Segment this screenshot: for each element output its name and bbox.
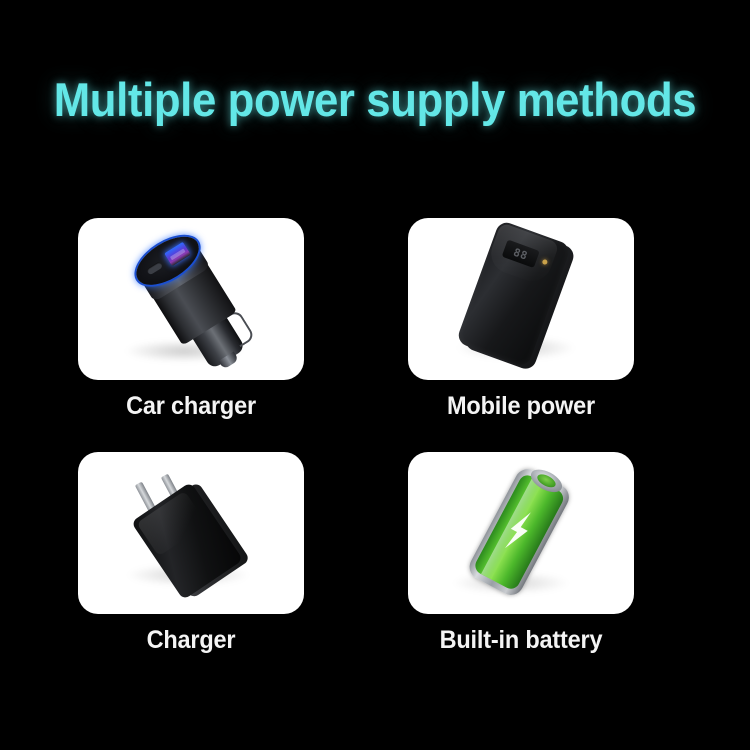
card-label-charger: Charger: [85, 626, 297, 655]
feature-cell-charger: Charger: [78, 452, 304, 655]
wall-charger-icon: [78, 452, 304, 614]
product-card-built-in-battery[interactable]: [408, 452, 634, 614]
power-bank-icon: 88: [408, 218, 634, 380]
page-title: Multiple power supply methods: [26, 72, 724, 127]
poster-canvas: Multiple power supply methods Car c: [0, 0, 750, 750]
product-card-charger[interactable]: [78, 452, 304, 614]
usb-c-port-icon: [146, 261, 163, 275]
product-card-car-charger[interactable]: [78, 218, 304, 380]
car-charger-icon: [78, 218, 304, 380]
power-bank-display-value: 88: [512, 245, 530, 262]
card-label-built-in-battery: Built-in battery: [415, 626, 627, 655]
usb-a-port-icon: [164, 242, 191, 266]
product-card-mobile-power[interactable]: 88: [408, 218, 634, 380]
wall-charger-illustration: [106, 452, 278, 614]
card-label-car-charger: Car charger: [85, 392, 297, 421]
feature-cell-car-charger: Car charger: [78, 218, 304, 421]
feature-cell-built-in-battery: Built-in battery: [408, 452, 634, 655]
card-label-mobile-power: Mobile power: [415, 392, 627, 421]
battery-icon: [408, 452, 634, 614]
feature-cell-mobile-power: 88 Mobile power: [408, 218, 634, 421]
